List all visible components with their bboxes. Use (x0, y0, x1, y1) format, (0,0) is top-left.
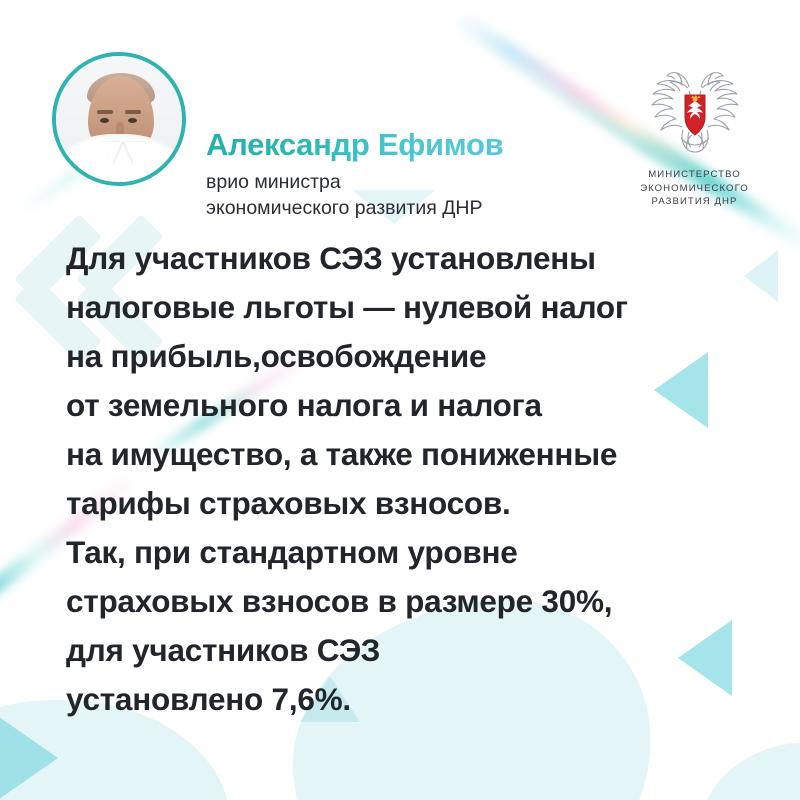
speaker-header: Александр Ефимов врио министра экономиче… (0, 48, 800, 198)
avatar-brow-left (97, 110, 113, 114)
avatar-brow-right (125, 110, 141, 114)
ministry-caption: МИНИСТЕРСТВО ЭКОНОМИЧЕСКОГО РАЗВИТИЯ ДНР (612, 168, 777, 209)
avatar-collar-left (100, 142, 122, 164)
mint-blob-right-shape (700, 742, 800, 800)
dnr-coat-of-arms-icon (643, 58, 747, 162)
avatar (52, 52, 186, 186)
speaker-role: врио министра экономического развития ДН… (206, 170, 483, 221)
ministry-logo: МИНИСТЕРСТВО ЭКОНОМИЧЕСКОГО РАЗВИТИЯ ДНР (612, 58, 777, 209)
quote-text: Для участников СЭЗ установлены налоговые… (66, 234, 766, 724)
avatar-photo (56, 56, 182, 182)
avatar-eye-right (128, 118, 137, 123)
avatar-eye-left (100, 118, 109, 123)
triangle-right-bottom-icon (0, 712, 58, 800)
speaker-name: Александр Ефимов (206, 128, 503, 162)
avatar-collar-right (124, 142, 146, 164)
social-quote-card: Александр Ефимов врио министра экономиче… (0, 0, 800, 800)
